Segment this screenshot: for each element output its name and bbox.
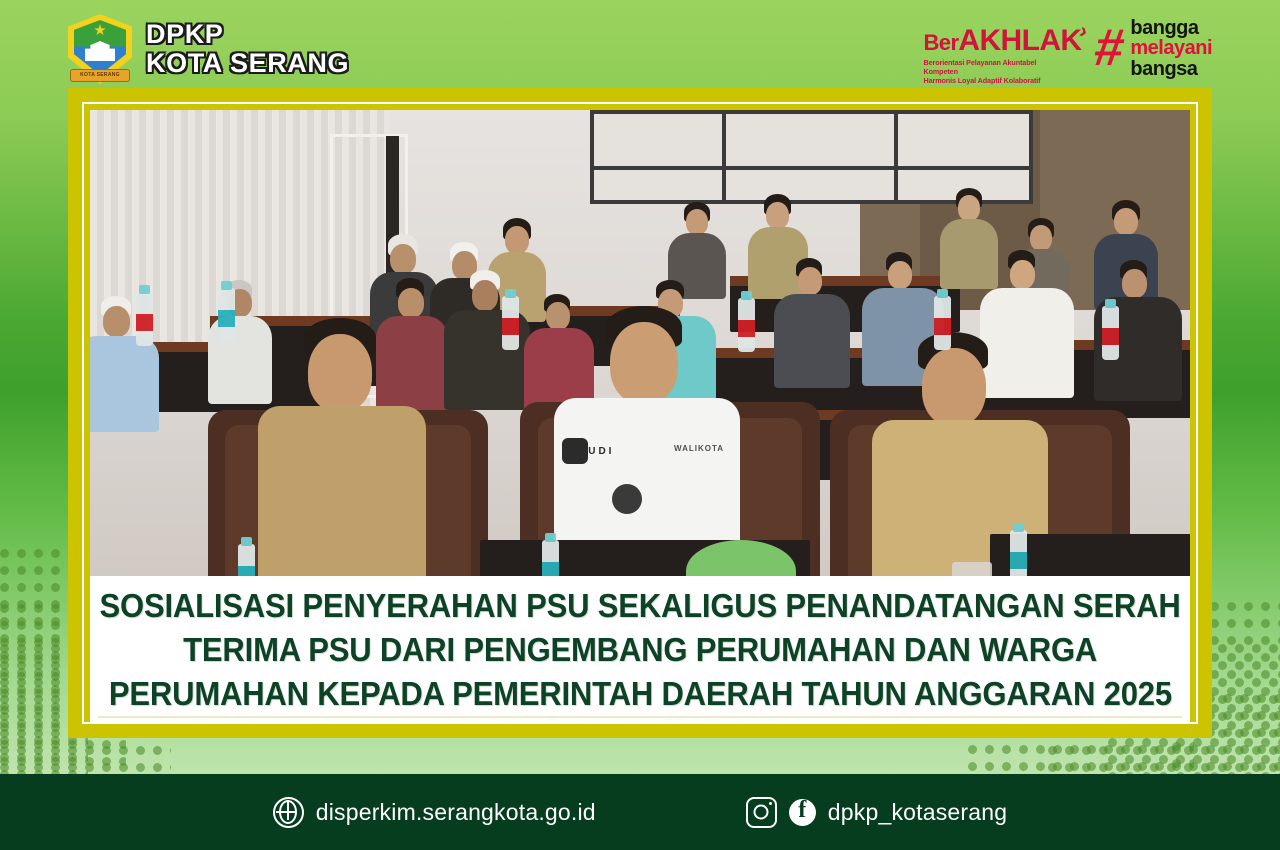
org-name: DPKP KOTA SERANG — [146, 20, 349, 77]
bangga-word-1: bangga — [1130, 18, 1212, 38]
berakhlak-tagline-line1: Berorientasi Pelayanan Akuntabel Kompete… — [924, 58, 1072, 76]
crest-ribbon-text: KOTA SERANG — [70, 69, 130, 82]
bangga-word-3: bangsa — [1130, 59, 1212, 79]
social-group[interactable]: f dpkp_kotaserang — [746, 797, 1007, 828]
org-name-line2: KOTA SERANG — [146, 49, 349, 78]
facebook-icon[interactable]: f — [789, 799, 816, 826]
berakhlak-tick-icon: › — [1076, 18, 1091, 45]
hashtag-icon: # — [1092, 27, 1127, 70]
website-text: disperkim.serangkota.go.id — [316, 799, 596, 826]
title-line-2: TERIMA PSU DARI PENGEMBANG PERUMAHAN DAN… — [183, 628, 1097, 672]
bangga-melayani-bangsa-logo: # bangga melayani bangsa — [1095, 18, 1212, 79]
berakhlak-logo: BerAKHLAK › Berorientasi Pelayanan Akunt… — [924, 18, 1082, 85]
title-plate: SOSIALISASI PENYERAHAN PSU SEKALIGUS PEN… — [90, 576, 1190, 724]
social-handle-text: dpkp_kotaserang — [828, 799, 1007, 826]
star-icon: ★ — [93, 23, 106, 38]
title-plate-hairline — [98, 716, 1182, 718]
campaign-logos: BerAKHLAK › Berorientasi Pelayanan Akunt… — [924, 18, 1212, 85]
berakhlak-tagline-line2: Harmonis Loyal Adaptif Kolaboratif — [924, 76, 1072, 85]
crest-ribbon: KOTA SERANG — [70, 69, 130, 82]
website-group[interactable]: disperkim.serangkota.go.id — [273, 797, 596, 828]
poster-canvas: ★ KOTA SERANG DPKP KOTA SERANG BerAKHLAK… — [0, 0, 1280, 850]
poster-header: ★ KOTA SERANG DPKP KOTA SERANG BerAKHLAK… — [0, 0, 1280, 92]
org-name-line1: DPKP — [146, 20, 349, 49]
bangga-words: bangga melayani bangsa — [1130, 18, 1212, 79]
berakhlak-wordmark: BerAKHLAK — [924, 26, 1082, 56]
berakhlak-tagline: Berorientasi Pelayanan Akuntabel Kompete… — [924, 58, 1072, 85]
title-line-3: PERUMAHAN KEPADA PEMERINTAH DAERAH TAHUN… — [109, 672, 1172, 716]
berakhlak-prefix: Ber — [924, 30, 959, 55]
title-line-1: SOSIALISASI PENYERAHAN PSU SEKALIGUS PEN… — [99, 584, 1180, 628]
kota-serang-coat-of-arms-icon: ★ KOTA SERANG — [68, 14, 132, 84]
brand-block: ★ KOTA SERANG DPKP KOTA SERANG — [68, 14, 349, 84]
uniform-badge-text: WALIKOTA — [674, 444, 724, 453]
poster-footer: disperkim.serangkota.go.id f dpkp_kotase… — [0, 774, 1280, 850]
bangga-word-2: melayani — [1130, 38, 1212, 58]
globe-icon — [273, 797, 304, 828]
instagram-icon[interactable] — [746, 797, 777, 828]
event-photo: BUDI WALIKOTA — [90, 110, 1190, 598]
berakhlak-main: AKHLAK — [958, 24, 1081, 57]
